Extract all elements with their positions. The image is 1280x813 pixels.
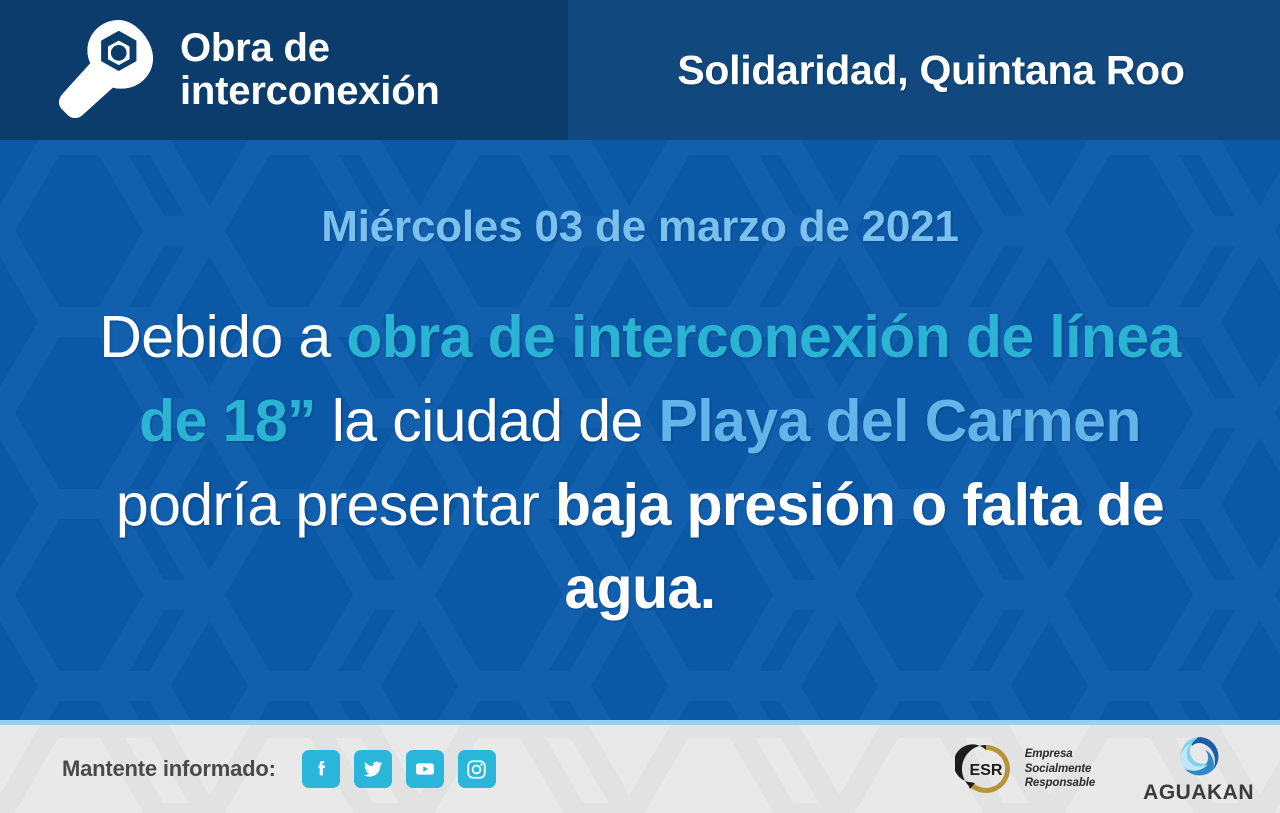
follow-us-label: Mantente informado: [62,756,276,782]
service-notice-poster: Obra de interconexión Solidaridad, Quint… [0,0,1280,813]
facebook-button[interactable] [302,750,340,788]
message-segment-5: baja presión o falta de agua. [555,472,1164,622]
message-segment-0: Debido a [99,304,346,370]
esr-caption: Empresa Socialmente Responsable [1025,747,1095,790]
instagram-icon [465,758,488,781]
wrench-nut-icon [58,18,156,122]
notice-date: Miércoles 03 de marzo de 2021 [321,202,958,252]
instagram-button[interactable] [458,750,496,788]
header-location: Solidaridad, Quintana Roo [677,47,1184,94]
twitter-button[interactable] [354,750,392,788]
poster-body-content: Miércoles 03 de marzo de 2021 Debido a o… [0,140,1280,720]
footer-logos: ESR Empresa Socialmente Responsable AGUA… [955,735,1260,803]
aguakan-wordmark: AGUAKAN [1143,782,1254,803]
esr-logo: ESR Empresa Socialmente Responsable [955,742,1095,796]
social-links [302,750,496,788]
youtube-icon [413,757,437,781]
poster-body: Miércoles 03 de marzo de 2021 Debido a o… [0,140,1280,720]
header-location-block: Solidaridad, Quintana Roo [568,0,1280,140]
svg-text:ESR: ESR [969,762,1002,779]
aguakan-logo: AGUAKAN [1143,735,1254,803]
message-segment-2: la ciudad de [316,388,659,454]
header-brand-block: Obra de interconexión [0,0,568,140]
poster-footer: Mantente informado: [0,725,1280,813]
footer-divider [0,720,1280,725]
aguakan-wave-icon [1173,735,1225,781]
message-segment-4: podría presentar [116,472,555,538]
message-segment-3: Playa del Carmen [659,388,1141,454]
youtube-button[interactable] [406,750,444,788]
header-title: Obra de interconexión [180,27,440,113]
facebook-icon [310,758,332,780]
footer-content: Mantente informado: [0,725,1280,813]
notice-message: Debido a obra de interconexión de línea … [70,296,1210,631]
poster-header: Obra de interconexión Solidaridad, Quint… [0,0,1280,140]
esr-swirl-icon: ESR [955,742,1017,796]
twitter-icon [362,758,384,780]
